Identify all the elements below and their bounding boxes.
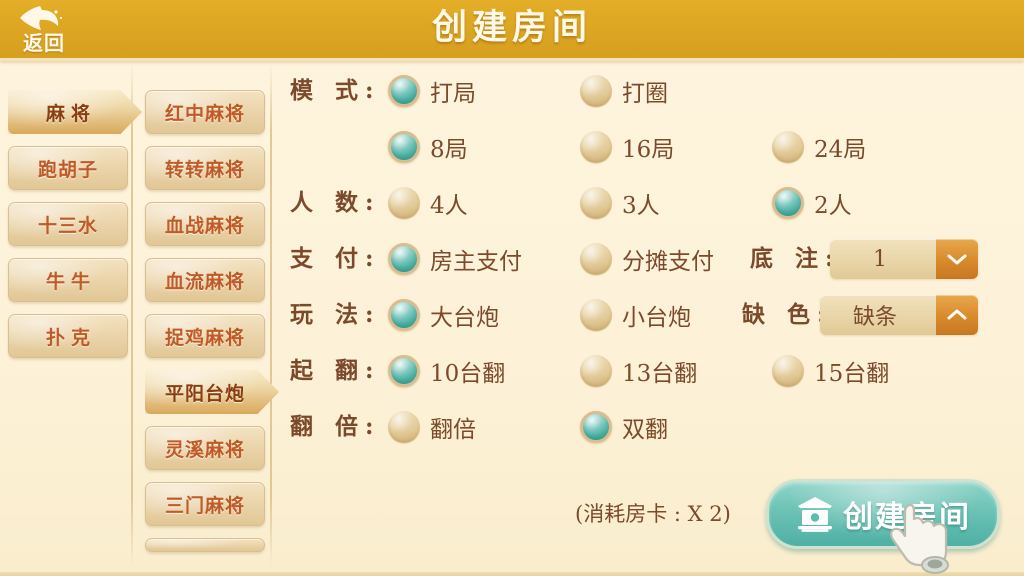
label-mode: 模 式 — [290, 70, 372, 112]
radio-indicator[interactable] — [580, 355, 612, 387]
category-list: 麻将跑胡子十三水牛牛扑克 — [8, 90, 128, 370]
radio-label: 双翻 — [622, 410, 668, 444]
category-item-label: 麻将 — [40, 99, 96, 126]
game-item-0[interactable]: 红中麻将 — [145, 90, 265, 134]
label-players: 人 数 — [290, 182, 372, 224]
radio-payment-1[interactable]: 分摊支付 — [580, 238, 714, 280]
header-bar: 返回 创建房间 — [0, 0, 1024, 61]
game-item-4[interactable]: 捉鸡麻将 — [145, 314, 265, 358]
radio-players-0[interactable]: 4人 — [388, 182, 468, 224]
radio-label: 16局 — [622, 130, 674, 164]
radio-indicator[interactable] — [580, 75, 612, 107]
bottom-edge — [0, 572, 1024, 576]
game-item-5[interactable]: 平阳台炮 — [145, 370, 279, 414]
label-missing-suit: 缺 色 — [742, 294, 826, 336]
radio-indicator[interactable] — [580, 299, 612, 331]
option-row-double: 翻 倍 翻倍 双翻 — [290, 406, 1024, 448]
option-row-mode: 模 式 打局 打圈 — [290, 70, 1024, 112]
radio-label: 打局 — [430, 74, 476, 108]
radio-indicator[interactable] — [580, 187, 612, 219]
radio-label: 13台翻 — [622, 354, 697, 388]
category-item-2[interactable]: 十三水 — [8, 202, 128, 246]
game-item-1[interactable]: 转转麻将 — [145, 146, 265, 190]
base-bet-arrow-button[interactable] — [936, 239, 978, 279]
radio-label: 3人 — [622, 186, 660, 220]
pavilion-icon — [795, 495, 835, 533]
radio-playstyle-1[interactable]: 小台炮 — [580, 294, 691, 336]
radio-label: 房主支付 — [430, 242, 522, 276]
label-playstyle: 玩 法 — [290, 294, 372, 336]
radio-mode-1[interactable]: 打圈 — [580, 70, 668, 112]
create-room-screen: 返回 创建房间 麻将跑胡子十三水牛牛扑克 红中麻将转转麻将血战麻将血流麻将捉鸡麻… — [0, 0, 1024, 576]
radio-label: 4人 — [430, 186, 468, 220]
radio-label: 8局 — [430, 130, 468, 164]
radio-double-0[interactable]: 翻倍 — [388, 406, 476, 448]
radio-label: 分摊支付 — [622, 242, 714, 276]
radio-indicator[interactable] — [388, 411, 420, 443]
missing-suit-arrow-button[interactable] — [936, 295, 978, 335]
radio-rounds-2[interactable]: 24局 — [772, 126, 866, 168]
page-title: 创建房间 — [0, 0, 1024, 58]
game-item-8[interactable] — [145, 538, 265, 552]
radio-double-1[interactable]: 双翻 — [580, 406, 668, 448]
category-item-label: 跑胡子 — [38, 155, 98, 182]
category-item-label: 扑克 — [40, 323, 96, 350]
category-item-1[interactable]: 跑胡子 — [8, 146, 128, 190]
radio-indicator[interactable] — [388, 75, 420, 107]
game-item-label: 转转麻将 — [165, 155, 245, 182]
radio-indicator[interactable] — [580, 131, 612, 163]
category-item-label: 十三水 — [38, 211, 98, 238]
radio-indicator[interactable] — [388, 131, 420, 163]
missing-suit-value: 缺条 — [820, 299, 936, 331]
option-row-playstyle: 玩 法 大台炮 小台炮 缺 色 缺条 — [290, 294, 1024, 336]
game-list: 红中麻将转转麻将血战麻将血流麻将捉鸡麻将平阳台炮灵溪麻将三门麻将 — [145, 90, 265, 564]
category-item-label: 牛牛 — [40, 267, 96, 294]
chevron-up-icon — [947, 309, 967, 321]
label-base-bet: 底 注 — [750, 238, 834, 280]
label-payment: 支 付 — [290, 238, 372, 280]
create-room-label: 创建房间 — [843, 492, 971, 536]
option-row-payment: 支 付 房主支付 分摊支付 底 注 1 — [290, 238, 1024, 280]
radio-indicator[interactable] — [388, 187, 420, 219]
game-item-label: 血流麻将 — [165, 267, 245, 294]
label-double: 翻 倍 — [290, 406, 372, 448]
category-item-4[interactable]: 扑克 — [8, 314, 128, 358]
game-item-label: 捉鸡麻将 — [165, 323, 245, 350]
category-item-0[interactable]: 麻将 — [8, 90, 142, 134]
game-item-label: 红中麻将 — [165, 99, 245, 126]
radio-indicator[interactable] — [388, 299, 420, 331]
option-row-start-multiplier: 起 翻 10台翻 13台翻 15台翻 — [290, 350, 1024, 392]
base-bet-dropdown[interactable]: 1 — [830, 239, 978, 279]
option-row-players: 人 数 4人 3人 2人 — [290, 182, 1024, 224]
radio-indicator[interactable] — [772, 187, 804, 219]
divider-right — [270, 62, 272, 568]
radio-players-2[interactable]: 2人 — [772, 182, 852, 224]
option-row-rounds: 8局 16局 24局 — [290, 126, 1024, 168]
radio-indicator[interactable] — [772, 355, 804, 387]
create-room-button[interactable]: 创建房间 — [766, 479, 1000, 549]
game-item-2[interactable]: 血战麻将 — [145, 202, 265, 246]
game-item-label: 灵溪麻将 — [165, 435, 245, 462]
radio-label: 24局 — [814, 130, 866, 164]
radio-indicator[interactable] — [388, 355, 420, 387]
game-item-7[interactable]: 三门麻将 — [145, 482, 265, 526]
radio-indicator[interactable] — [772, 131, 804, 163]
radio-start-multiplier-2[interactable]: 15台翻 — [772, 350, 889, 392]
room-card-cost: (消耗房卡 : X 2) — [575, 498, 731, 528]
game-item-6[interactable]: 灵溪麻将 — [145, 426, 265, 470]
label-start-multiplier: 起 翻 — [290, 350, 372, 392]
radio-label: 15台翻 — [814, 354, 889, 388]
radio-label: 大台炮 — [430, 298, 499, 332]
radio-indicator[interactable] — [580, 411, 612, 443]
game-item-label: 平阳台炮 — [165, 379, 245, 406]
radio-rounds-1[interactable]: 16局 — [580, 126, 674, 168]
radio-players-1[interactable]: 3人 — [580, 182, 660, 224]
radio-rounds-0[interactable]: 8局 — [388, 126, 468, 168]
game-item-3[interactable]: 血流麻将 — [145, 258, 265, 302]
radio-indicator[interactable] — [388, 243, 420, 275]
radio-start-multiplier-0[interactable]: 10台翻 — [388, 350, 505, 392]
radio-payment-0[interactable]: 房主支付 — [388, 238, 522, 280]
game-item-label: 血战麻将 — [165, 211, 245, 238]
radio-label: 小台炮 — [622, 298, 691, 332]
radio-label: 10台翻 — [430, 354, 505, 388]
base-bet-value: 1 — [830, 247, 936, 272]
radio-playstyle-0[interactable]: 大台炮 — [388, 294, 499, 336]
radio-mode-0[interactable]: 打局 — [388, 70, 476, 112]
radio-label: 打圈 — [622, 74, 668, 108]
category-item-3[interactable]: 牛牛 — [8, 258, 128, 302]
divider-left — [131, 62, 133, 568]
radio-label: 翻倍 — [430, 410, 476, 444]
radio-indicator[interactable] — [580, 243, 612, 275]
radio-label: 2人 — [814, 186, 852, 220]
game-item-label: 三门麻将 — [165, 491, 245, 518]
chevron-down-icon — [947, 253, 967, 265]
options-panel: 模 式 打局 打圈 8局 16局 24局 — [290, 62, 1024, 462]
missing-suit-dropdown[interactable]: 缺条 — [820, 295, 978, 335]
radio-start-multiplier-1[interactable]: 13台翻 — [580, 350, 697, 392]
